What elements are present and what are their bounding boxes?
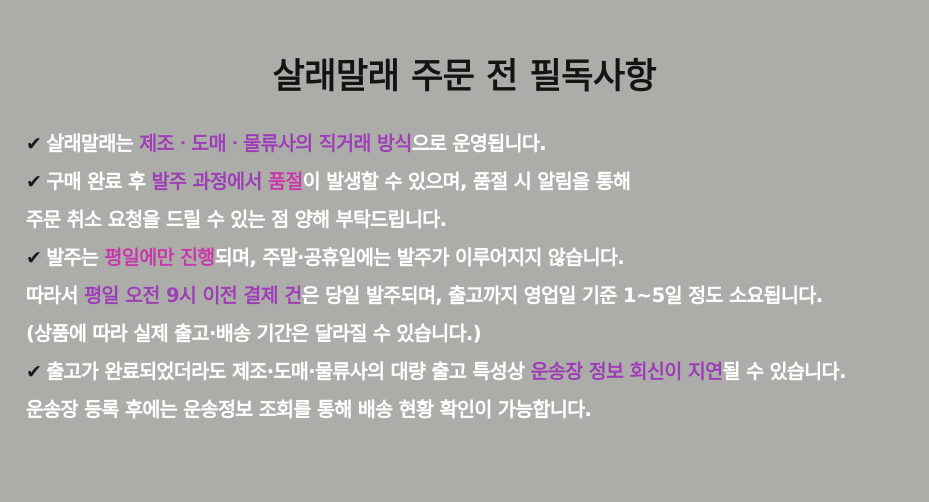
- notice-text-segment: (상품에 따라 실제 출고·배송 기간은 달라질 수 있습니다.): [26, 322, 481, 345]
- notice-text-segment: 될 수 있습니다.: [723, 360, 846, 383]
- notice-text-segment: 되며, 주말·공휴일에는 발주가 이루어지지 않습니다.: [215, 246, 624, 269]
- notice-text-segment: 제조ㆍ도매ㆍ물류사의 직거래 방식: [139, 132, 411, 155]
- notice-text-segment: 발주는: [46, 246, 104, 269]
- check-icon: ✔: [26, 163, 41, 201]
- page-title: 살래말래 주문 전 필독사항: [0, 0, 929, 97]
- notice-banner: 살래말래 주문 전 필독사항 ✔살래말래는 제조ㆍ도매ㆍ물류사의 직거래 방식으…: [0, 0, 929, 502]
- notice-text-segment: 살래말래는: [46, 132, 139, 155]
- notice-tracking-delay: ✔출고가 완료되었더라도 제조·도매·물류사의 대량 출고 특성상 운송장 정보…: [26, 353, 929, 391]
- notice-weekday-order: ✔발주는 평일에만 진행되며, 주말·공휴일에는 발주가 이루어지지 않습니다.: [26, 239, 929, 277]
- notice-text-segment: 출고가 완료되었더라도 제조·도매·물류사의 대량 출고 특성상: [46, 360, 530, 383]
- notice-tracking-lookup: 운송장 등록 후에는 운송정보 조회를 통해 배송 현황 확인이 가능합니다.: [26, 391, 929, 429]
- notice-text-segment: 따라서: [26, 284, 84, 307]
- notice-text-segment: 구매 완료 후: [46, 170, 151, 193]
- notice-text-segment: 주문 취소 요청을 드릴 수 있는 점 양해 부탁드립니다.: [26, 208, 446, 231]
- notice-cutoff-time: 따라서 평일 오전 9시 이전 결제 건은 당일 발주되며, 출고까지 영업일 …: [26, 277, 929, 315]
- check-icon: ✔: [26, 239, 41, 277]
- check-icon: ✔: [26, 353, 41, 391]
- notice-direct-trade: ✔살래말래는 제조ㆍ도매ㆍ물류사의 직거래 방식으로 운영됩니다.: [26, 125, 929, 163]
- notice-shipping-variance: (상품에 따라 실제 출고·배송 기간은 달라질 수 있습니다.): [26, 315, 929, 353]
- notice-soldout-2: 주문 취소 요청을 드릴 수 있는 점 양해 부탁드립니다.: [26, 201, 929, 239]
- notice-text-segment: 운송장 정보 회신이 지연: [531, 360, 723, 383]
- notice-text-segment: 평일에만 진행: [105, 246, 215, 269]
- notice-text-segment: 품절: [268, 170, 303, 193]
- notice-text-segment: 이 발생할 수 있으며, 품절 시 알림을 통해: [303, 170, 631, 193]
- notice-list: ✔살래말래는 제조ㆍ도매ㆍ물류사의 직거래 방식으로 운영됩니다.✔구매 완료 …: [0, 125, 929, 429]
- notice-text-segment: 으로 운영됩니다.: [412, 132, 546, 155]
- check-icon: ✔: [26, 125, 41, 163]
- notice-text-segment: 운송장 등록 후에는 운송정보 조회를 통해 배송 현황 확인이 가능합니다.: [26, 398, 591, 421]
- notice-text-segment: 평일 오전 9시 이전 결제 건: [84, 284, 301, 307]
- notice-soldout-1: ✔구매 완료 후 발주 과정에서 품절이 발생할 수 있으며, 품절 시 알림을…: [26, 163, 929, 201]
- notice-text-segment: 은 당일 발주되며, 출고까지 영업일 기준 1~5일 정도 소요됩니다.: [302, 284, 823, 307]
- notice-text-segment: 발주 과정에서: [152, 170, 268, 193]
